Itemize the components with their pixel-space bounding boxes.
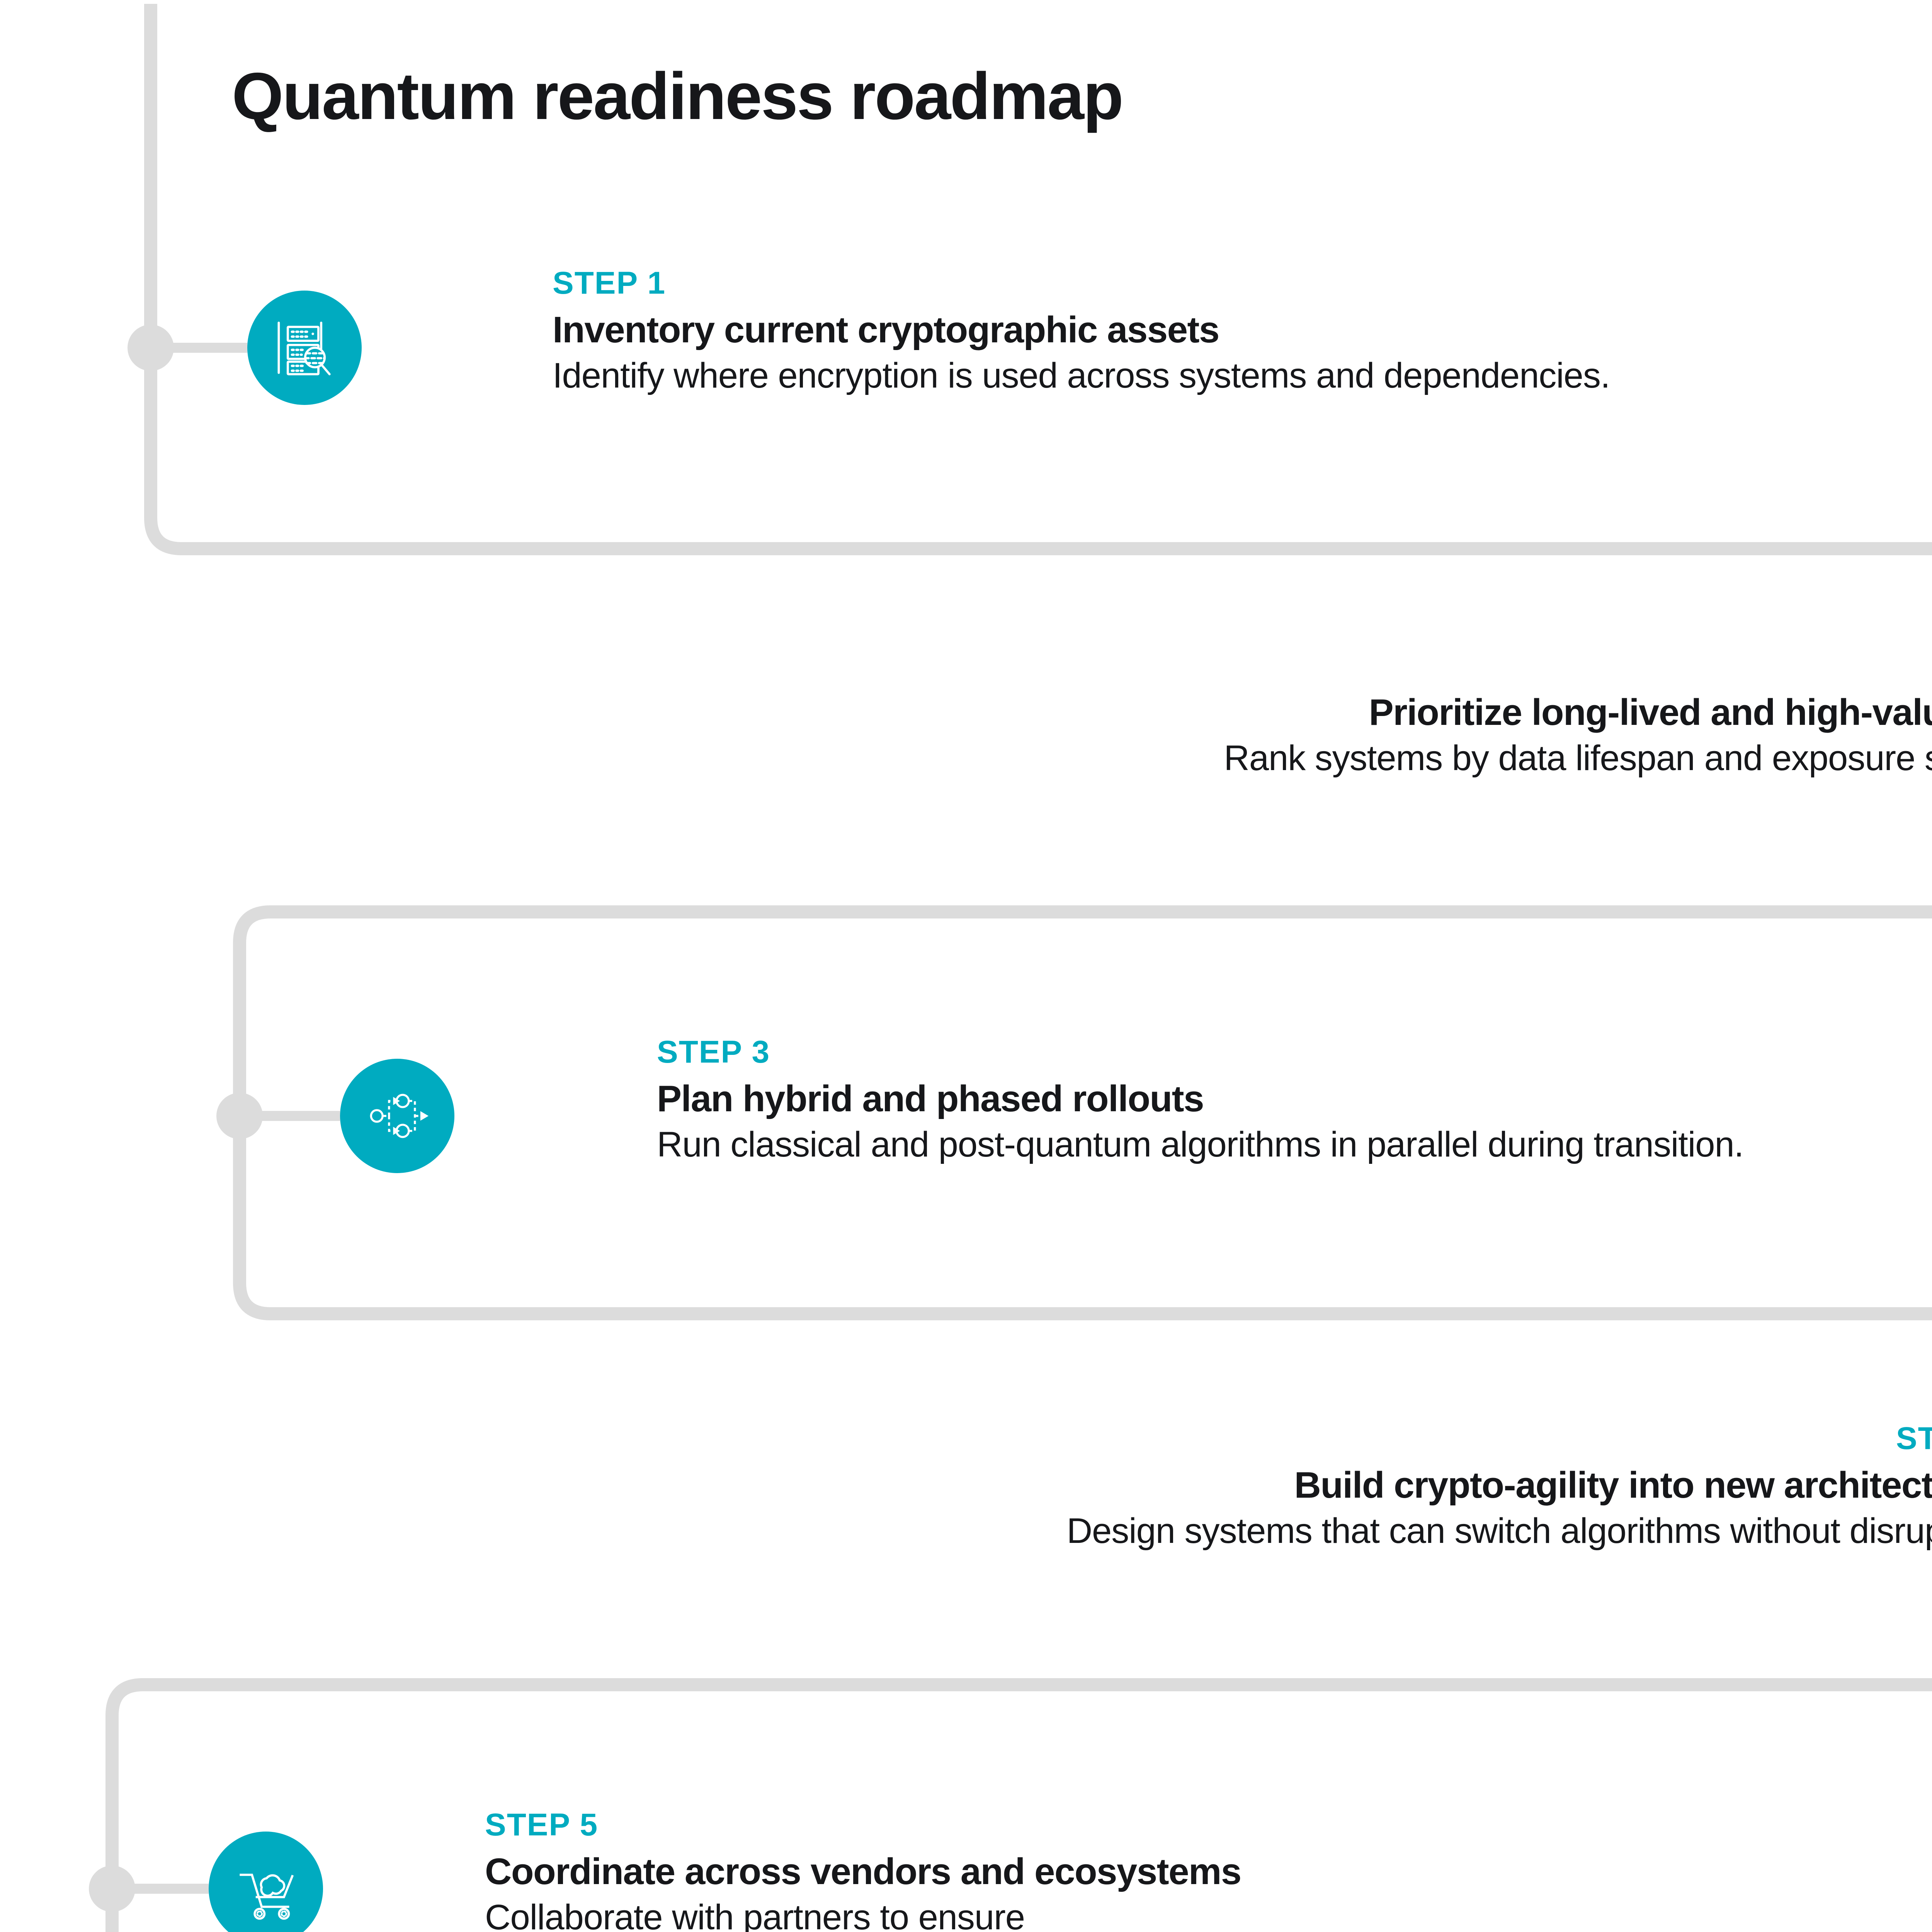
infographic-canvas: Quantum readiness roadmap [0, 0, 1932, 1932]
step-label-3: STEP 3 [657, 1036, 1932, 1069]
step-icon-circle-3 [340, 1059, 454, 1173]
step-label-1: STEP 1 [553, 267, 1932, 300]
step-title-2: Prioritize long-lived and high-value dat… [464, 691, 1932, 734]
step-desc-5: Collaborate with partners to ensure inte… [485, 1895, 1932, 1932]
rail-node-step-5 [89, 1866, 135, 1912]
step-desc-1: Identify where encryption is used across… [553, 354, 1932, 398]
step-title-4: Build crypto-agility into new architectu… [386, 1464, 1932, 1507]
cloud-cart-icon [231, 1854, 301, 1923]
step-label-2: STEP 2 [464, 649, 1932, 682]
step-desc-3: Run classical and post-quantum algorithm… [657, 1122, 1932, 1167]
step-desc-4: Design systems that can switch algorithm… [386, 1509, 1932, 1554]
parallel-flow-icon [363, 1082, 431, 1150]
step-title-1: Inventory current cryptographic assets [553, 308, 1932, 351]
step-title-5: Coordinate across vendors and ecosystems [485, 1850, 1932, 1893]
rail-node-step-1 [128, 325, 174, 371]
step-title-3: Plan hybrid and phased rollouts [657, 1077, 1932, 1120]
step-icon-circle-1 [247, 291, 362, 405]
page-title: Quantum readiness roadmap [232, 58, 1122, 134]
step-desc-2: Rank systems by data lifespan and exposu… [464, 736, 1932, 781]
server-rack-search-icon [270, 313, 339, 383]
step-label-4: STEP 4 [386, 1422, 1932, 1455]
rail-node-step-3 [216, 1093, 263, 1139]
step-label-5: STEP 5 [485, 1808, 1932, 1842]
